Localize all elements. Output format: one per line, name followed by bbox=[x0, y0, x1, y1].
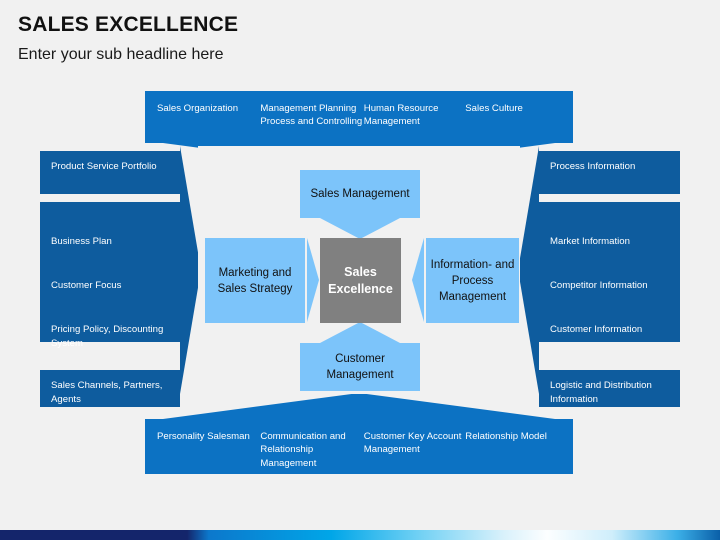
left-box-product-service-portfolio[interactable]: Product Service Portfolio bbox=[40, 151, 180, 194]
top-band-cell-0[interactable]: Sales Organization bbox=[157, 102, 260, 133]
chevron-up-icon bbox=[163, 393, 555, 419]
node-sales-management-label: Sales Management bbox=[310, 186, 409, 202]
left-box-2-line-0: Sales Channels, Partners, Agents bbox=[51, 379, 169, 407]
bottom-band-cell-1[interactable]: Communication and Relationship Managemen… bbox=[260, 430, 363, 464]
arrow-left-icon bbox=[412, 238, 424, 322]
node-marketing-sales-strategy[interactable]: Marketing and Sales Strategy bbox=[205, 238, 305, 323]
right-box-2-line-0: Logistic and Distribution Information bbox=[550, 379, 669, 407]
right-box-1-line-2: Customer Information bbox=[550, 323, 672, 337]
node-information-process-management-label: Information- and Process Management bbox=[426, 257, 519, 305]
node-information-process-management[interactable]: Information- and Process Management bbox=[426, 238, 519, 323]
node-marketing-sales-strategy-label: Marketing and Sales Strategy bbox=[205, 265, 305, 297]
right-box-information-group[interactable]: Market Information Competitor Informatio… bbox=[539, 202, 680, 342]
node-sales-excellence-core[interactable]: Sales Excellence bbox=[320, 238, 401, 323]
top-band-cell-2[interactable]: Human Resource Management bbox=[364, 102, 465, 133]
right-box-logistic-distribution[interactable]: Logistic and Distribution Information bbox=[539, 370, 680, 407]
slide-header: SALES EXCELLENCE Enter your sub headline… bbox=[18, 12, 678, 66]
right-box-0-line-0: Process Information bbox=[550, 160, 669, 174]
node-sales-management[interactable]: Sales Management bbox=[300, 170, 420, 218]
sales-excellence-diagram: Sales Organization Management Planning P… bbox=[0, 85, 720, 480]
node-sales-excellence-core-label: Sales Excellence bbox=[320, 264, 401, 298]
left-box-1-line-1: Customer Focus bbox=[51, 279, 172, 293]
arrow-down-icon bbox=[320, 218, 400, 239]
left-box-1-line-2: Pricing Policy, Discounting System bbox=[51, 323, 172, 351]
left-box-0-line-0: Product Service Portfolio bbox=[51, 160, 169, 174]
top-band[interactable]: Sales Organization Management Planning P… bbox=[145, 91, 573, 143]
top-band-cell-1[interactable]: Management Planning Process and Controll… bbox=[260, 102, 363, 133]
chevron-left-icon bbox=[518, 146, 539, 394]
bottom-band-cell-3[interactable]: Relationship Model bbox=[465, 430, 561, 464]
bottom-band-cell-2[interactable]: Customer Key Account Management bbox=[364, 430, 465, 464]
right-box-1-line-1: Competitor Information bbox=[550, 279, 672, 293]
arrow-right-icon bbox=[307, 238, 319, 322]
arrow-up-icon bbox=[320, 322, 400, 343]
footer-gradient-bar bbox=[0, 530, 720, 540]
left-box-sales-channels[interactable]: Sales Channels, Partners, Agents bbox=[40, 370, 180, 407]
node-customer-management[interactable]: Customer Management bbox=[300, 343, 420, 391]
left-box-strategy-group[interactable]: Business Plan Customer Focus Pricing Pol… bbox=[40, 202, 180, 342]
node-customer-management-label: Customer Management bbox=[300, 351, 420, 383]
right-box-1-line-0: Market Information bbox=[550, 235, 672, 249]
right-box-process-information[interactable]: Process Information bbox=[539, 151, 680, 194]
left-box-1-line-0: Business Plan bbox=[51, 235, 172, 249]
bottom-band-cell-0[interactable]: Personality Salesman bbox=[157, 430, 260, 464]
bottom-band[interactable]: Personality Salesman Communication and R… bbox=[145, 419, 573, 474]
page-subtitle: Enter your sub headline here bbox=[18, 44, 678, 66]
page-title: SALES EXCELLENCE bbox=[18, 12, 678, 38]
top-band-cell-3[interactable]: Sales Culture bbox=[465, 102, 561, 133]
